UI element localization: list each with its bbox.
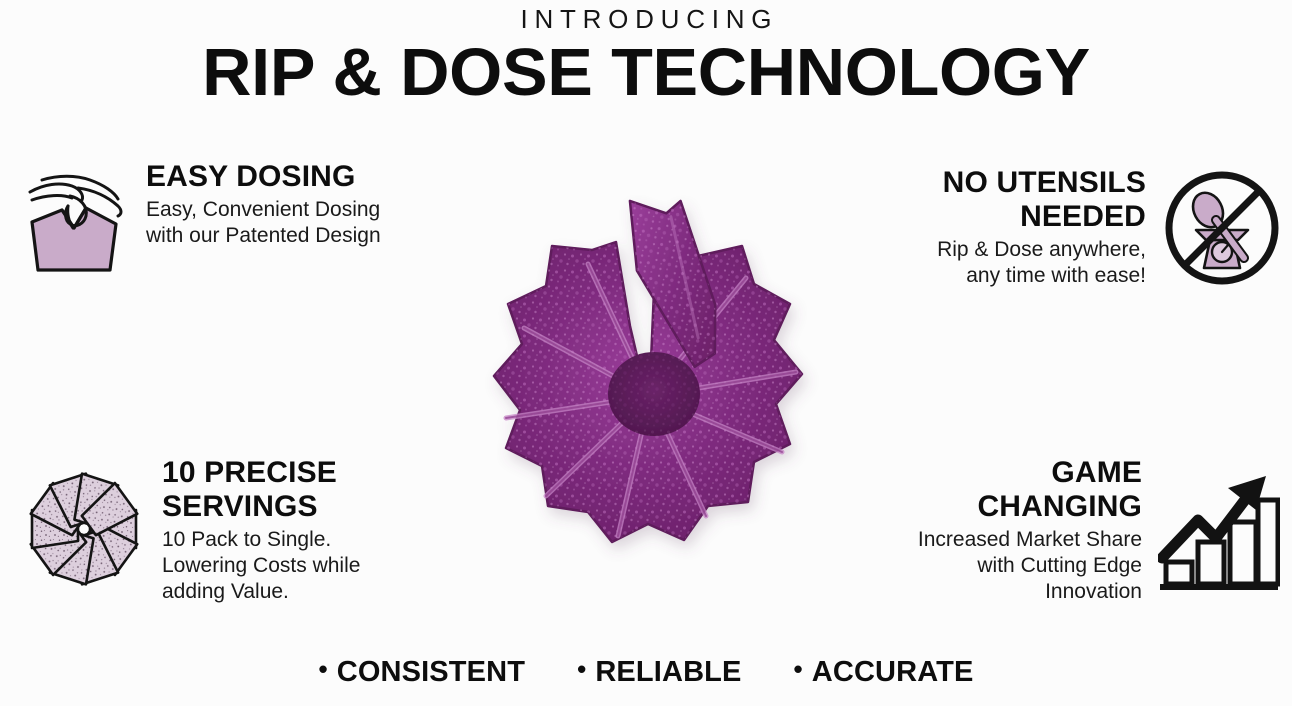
feature-description-line: with Cutting Edge: [884, 553, 1142, 579]
feature-description: Easy, Convenient Dosing with our Patente…: [146, 197, 436, 249]
feature-description-line: Easy, Convenient Dosing: [146, 197, 436, 223]
feature-description-line: adding Value.: [162, 579, 412, 605]
feature-title-line: NEEDED: [906, 200, 1146, 234]
feature-description: Rip & Dose anywhere, any time with ease!: [906, 237, 1146, 289]
tagline-label: CONSISTENT: [337, 656, 525, 689]
feature-precise-servings-text: 10 PRECISE SERVINGS 10 Pack to Single. L…: [162, 456, 412, 605]
tagline-label: ACCURATE: [812, 656, 974, 689]
growth-chart-arrow-icon: [1158, 466, 1280, 598]
eyebrow-text: INTRODUCING: [0, 0, 1292, 35]
feature-description-line: with our Patented Design: [146, 223, 436, 249]
tagline-label: RELIABLE: [595, 656, 741, 689]
tagline-item-consistent: • CONSISTENT: [318, 656, 525, 689]
feature-easy-dosing-text: EASY DOSING Easy, Convenient Dosing with…: [146, 160, 436, 249]
bullet-icon: •: [794, 656, 803, 682]
feature-title: EASY DOSING: [146, 160, 436, 194]
tagline-item-reliable: • RELIABLE: [577, 656, 741, 689]
ten-wedge-pie-icon: [20, 464, 148, 594]
bullet-icon: •: [318, 656, 327, 682]
page-title: RIP & DOSE TECHNOLOGY: [0, 36, 1292, 110]
feature-title-line: GAME: [884, 456, 1142, 490]
feature-title-line: 10 PRECISE: [162, 456, 412, 490]
feature-description-line: Increased Market Share: [884, 527, 1142, 553]
feature-description-line: Lowering Costs while: [162, 553, 412, 579]
feature-description-line: Innovation: [884, 579, 1142, 605]
feature-title-line: SERVINGS: [162, 490, 412, 524]
feature-description-line: Rip & Dose anywhere,: [906, 237, 1146, 263]
feature-easy-dosing: EASY DOSING Easy, Convenient Dosing with…: [18, 160, 436, 274]
tagline-row: • CONSISTENT • RELIABLE • ACCURATE: [0, 656, 1292, 689]
feature-title-line: CHANGING: [884, 490, 1142, 524]
feature-title: 10 PRECISE SERVINGS: [162, 456, 412, 524]
infographic-canvas: INTRODUCING RIP & DOSE TECHNOLOGY EASY D…: [0, 0, 1292, 706]
feature-title: GAME CHANGING: [884, 456, 1142, 524]
product-image-scored-disc: [424, 138, 876, 608]
tagline-item-accurate: • ACCURATE: [794, 656, 974, 689]
feature-no-utensils: NO UTENSILS NEEDED Rip & Dose anywhere, …: [906, 166, 1280, 289]
feature-game-changing-text: GAME CHANGING Increased Market Share wit…: [884, 456, 1142, 605]
feature-description-line: any time with ease!: [906, 263, 1146, 289]
feature-title: NO UTENSILS NEEDED: [906, 166, 1146, 234]
feature-description: Increased Market Share with Cutting Edge…: [884, 527, 1142, 605]
header: INTRODUCING RIP & DOSE TECHNOLOGY: [0, 0, 1292, 110]
feature-game-changing: GAME CHANGING Increased Market Share wit…: [884, 456, 1280, 605]
bullet-icon: •: [577, 656, 586, 682]
feature-description-line: 10 Pack to Single.: [162, 527, 412, 553]
no-utensils-prohibited-icon: [1164, 170, 1280, 286]
feature-precise-servings: 10 PRECISE SERVINGS 10 Pack to Single. L…: [20, 456, 412, 605]
feature-title-line: NO UTENSILS: [906, 166, 1146, 200]
feature-no-utensils-text: NO UTENSILS NEEDED Rip & Dose anywhere, …: [906, 166, 1146, 289]
hand-ripping-packet-icon: [18, 166, 130, 274]
feature-description: 10 Pack to Single. Lowering Costs while …: [162, 527, 412, 605]
